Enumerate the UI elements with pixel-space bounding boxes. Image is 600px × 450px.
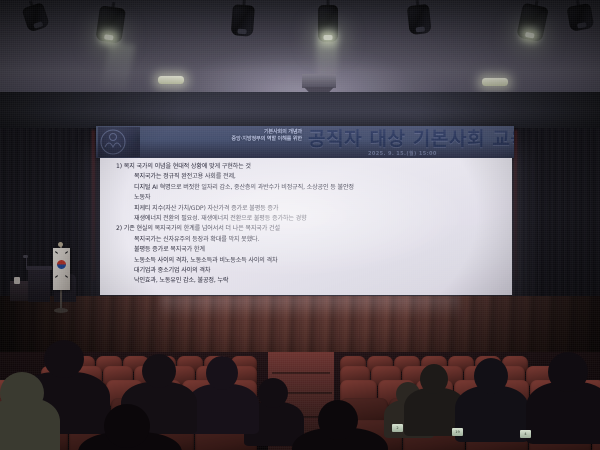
stage-shadow	[0, 296, 210, 358]
slide-line: 디지털 AI 혁명으로 버젓한 일자리 감소, 중산층의 과반수가 비정규직, …	[134, 183, 506, 193]
curtain-edge	[92, 130, 95, 280]
flag-finial	[58, 242, 63, 247]
slide-line: 노동자	[134, 193, 506, 203]
slide-line: 피케티 지수(자산 가치/GDP) 자산가격 증가로 불평등 증가	[134, 204, 506, 214]
banner-subtitle: 기본사회의 개념과 중앙·지방정부의 역할 이해를 위한	[152, 129, 302, 143]
audience-member-head	[104, 404, 150, 448]
stage-light-fixture	[231, 0, 255, 37]
audience-member-head	[474, 358, 508, 394]
taeguk-symbol-icon	[57, 260, 66, 269]
government-emblem-icon	[98, 127, 140, 157]
audience-member-head	[0, 372, 44, 414]
lectern	[28, 268, 50, 302]
audience-member-body	[455, 386, 529, 442]
slide-line: 대기업과 중소기업 사이의 격차	[134, 266, 506, 276]
slide-line: 복지국가는 신자유주의 등장과 확대를 막지 못했다.	[134, 235, 506, 245]
recessed-downlight	[158, 76, 184, 84]
slide-line: 재생에너지 전환의 필요성. 재생에너지 전환으로 불평등 증가하는 경향	[134, 214, 506, 224]
audience-member-head	[258, 378, 288, 408]
stage-light-fixture-lit	[95, 0, 126, 43]
seat-number-tag: 19	[452, 428, 463, 436]
slide-line: 불평등 증가로 복지국가 한계	[134, 245, 506, 255]
lectern-top	[26, 266, 52, 270]
stage-light-fixture	[566, 0, 595, 32]
slide-line: 낙인효과, 노동유인 감소, 불공정, 누락	[134, 276, 506, 286]
audience-member-head	[318, 400, 358, 440]
recessed-downlight	[482, 78, 508, 86]
projection-screen: 1) 복지 국가의 이념을 현대적 상황에 맞게 구현하는 것복지국가는 정규직…	[100, 158, 512, 295]
audience-member-body	[187, 384, 259, 434]
stage-light-fixture	[406, 0, 431, 35]
ceiling-speaker	[302, 74, 336, 88]
slide-line: 2) 기존 현실의 복지국가의 한계를 넘어서서 더 나은 복지국가 건설	[116, 224, 506, 234]
slide-text-block: 1) 복지 국가의 이념을 현대적 상황에 맞게 구현하는 것복지국가는 정규직…	[116, 162, 506, 287]
aisle-step	[272, 372, 330, 374]
audience-member-head	[44, 340, 84, 378]
stage-curtain-right	[512, 128, 600, 303]
slide-line: 노동소득 사이의 격차, 노동소득과 비노동소득 사이의 격차	[134, 256, 506, 266]
stage-light-fixture-lit	[318, 0, 338, 42]
slide-line: 복지국가는 정규직 완전고용 사회를 전제,	[134, 172, 506, 182]
banner-subtitle-line2: 중앙·지방정부의 역할 이해를 위한	[152, 136, 302, 143]
flag-stand-base	[54, 308, 68, 313]
podium-microphone-stand	[26, 258, 27, 268]
paper-cup	[14, 277, 20, 284]
audience-member-head	[142, 354, 176, 388]
seat-number-tag: 4	[520, 430, 531, 438]
banner-date: 2025. 9. 15.(월) 15:00	[368, 150, 437, 157]
event-banner: 기본사회의 개념과 중앙·지방정부의 역할 이해를 위한 공직자 대상 기본사회…	[96, 126, 514, 158]
auditorium-photo: 기본사회의 개념과 중앙·지방정부의 역할 이해를 위한 공직자 대상 기본사회…	[0, 0, 600, 450]
slide-line: 1) 복지 국가의 이념을 현대적 상황에 맞게 구현하는 것	[116, 162, 506, 172]
banner-title: 공직자 대상 기본사회 교육	[308, 128, 514, 150]
seat-number-tag: 2	[392, 424, 403, 432]
audience-member-head	[420, 364, 448, 394]
podium-microphone-icon	[23, 255, 28, 258]
audience-member-head	[548, 352, 588, 392]
stage-shadow	[400, 296, 600, 358]
curtain-edge	[514, 130, 517, 280]
audience-member-head	[206, 356, 238, 390]
ceiling-light-haze	[0, 40, 600, 100]
upper-wall-shading	[0, 92, 600, 128]
korean-national-flag	[53, 248, 70, 290]
